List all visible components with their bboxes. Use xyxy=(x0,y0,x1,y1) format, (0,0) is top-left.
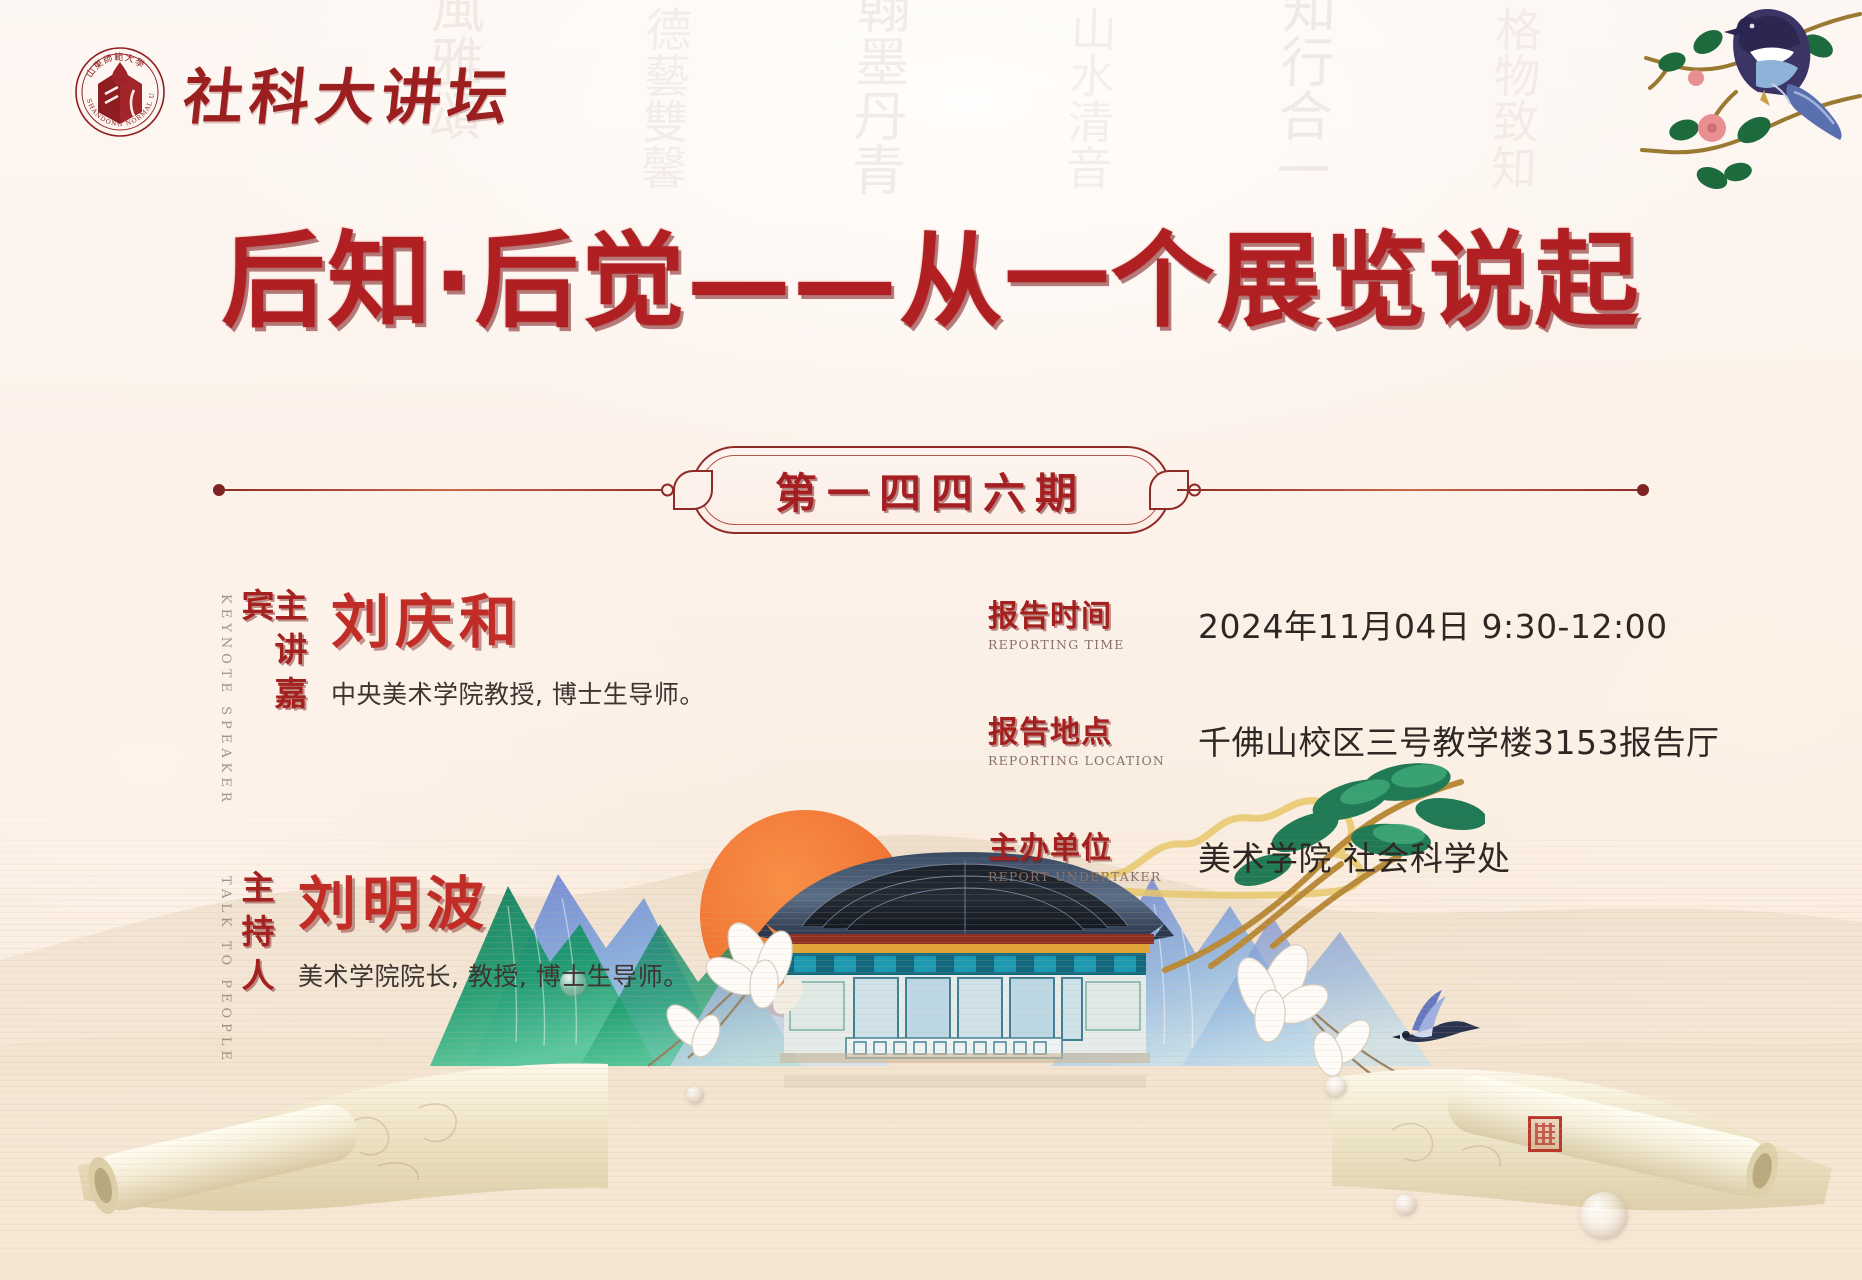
page-title: 后知·后觉——从一个展览说起 xyxy=(0,196,1862,347)
host-label-en: TALK TO PEOPLE xyxy=(218,870,233,1065)
host-block: TALK TO PEOPLE 主持人 刘明波 美术学院院长, 教授, 博士生导师… xyxy=(218,870,838,1040)
host-label: TALK TO PEOPLE 主持人 xyxy=(218,870,272,1040)
info-key-organizer-en: REPORT UNDERTAKER xyxy=(988,869,1138,884)
magpie-on-blossom-branch-icon xyxy=(1612,0,1862,215)
episode-banner-row: 第一四四六期 xyxy=(0,440,1862,540)
brand-title: 社科大讲坛 xyxy=(179,49,518,136)
info-key-location: 报告地点 REPORTING LOCATION xyxy=(988,714,1138,768)
episode-label: 第一四四六期 xyxy=(775,460,1087,521)
banner-knot-left-icon xyxy=(673,470,713,510)
water-bubble-icon xyxy=(1395,1194,1417,1216)
watermark-column: 翰墨丹青 xyxy=(841,0,911,196)
watermark-column: 德藝雙馨 xyxy=(633,0,693,190)
event-info-section: 报告时间 REPORTING TIME 2024年11月04日 9:30-12:… xyxy=(988,598,1748,946)
keynote-speaker-title: 中央美术学院教授, 博士生导师。 xyxy=(331,675,705,711)
episode-banner: 第一四四六期 xyxy=(691,446,1171,534)
host-info: 刘明波 美术学院院长, 教授, 博士生导师。 xyxy=(298,870,689,993)
rolled-scroll-right-icon xyxy=(1332,1038,1852,1228)
banner-dot-left-icon xyxy=(661,484,674,497)
info-key-time: 报告时间 REPORTING TIME xyxy=(988,598,1138,652)
keynote-speaker-name: 刘庆和 xyxy=(331,592,705,653)
info-row-time: 报告时间 REPORTING TIME 2024年11月04日 9:30-12:… xyxy=(988,598,1748,652)
brand-header: 山東師範大學 SHANDONG NORMAL UNIVERSITY 社科大讲坛 xyxy=(74,46,514,138)
keynote-speaker-info: 刘庆和 中央美术学院教授, 博士生导师。 xyxy=(331,588,705,711)
info-value-organizer: 美术学院 社会科学处 xyxy=(1138,830,1511,880)
water-bubble-icon xyxy=(686,1086,704,1104)
host-name: 刘明波 xyxy=(298,874,689,935)
info-value-time: 2024年11月04日 9:30-12:00 xyxy=(1138,598,1668,648)
keynote-speaker-label-en: KEYNOTE SPEAKER xyxy=(218,588,233,807)
water-bubble-icon xyxy=(1325,1076,1347,1098)
info-key-time-cn: 报告时间 xyxy=(988,600,1138,633)
info-row-location: 报告地点 REPORTING LOCATION 千佛山校区三号教学楼3153报告… xyxy=(988,714,1748,768)
watermark-column: 知行合一 xyxy=(1266,0,1336,196)
poster-canvas: 風雅頌 德藝雙馨 翰墨丹青 山水清音 知行合一 格物致知 xyxy=(0,0,1862,1280)
flying-magpie-icon xyxy=(1384,984,1494,1054)
info-key-organizer: 主办单位 REPORT UNDERTAKER xyxy=(988,830,1138,884)
red-seal-stamp-icon xyxy=(1528,1116,1562,1152)
info-value-location: 千佛山校区三号教学楼3153报告厅 xyxy=(1138,714,1719,764)
shandong-normal-university-seal-icon: 山東師範大學 SHANDONG NORMAL UNIVERSITY xyxy=(74,46,166,138)
info-key-organizer-cn: 主办单位 xyxy=(988,832,1138,865)
keynote-speaker-block: KEYNOTE SPEAKER 主讲嘉宾 刘庆和 中央美术学院教授, 博士生导师… xyxy=(218,588,838,758)
info-key-location-en: REPORTING LOCATION xyxy=(988,753,1138,768)
info-key-time-en: REPORTING TIME xyxy=(988,637,1138,652)
keynote-speaker-label-cn: 主讲嘉宾 xyxy=(239,588,305,758)
info-row-organizer: 主办单位 REPORT UNDERTAKER 美术学院 社会科学处 xyxy=(988,830,1748,884)
divider-line-right xyxy=(1177,489,1647,491)
divider-line-left xyxy=(215,489,685,491)
host-label-cn: 主持人 xyxy=(239,870,272,1002)
rolled-scroll-left-icon xyxy=(48,1038,608,1228)
watermark-column: 山水清音 xyxy=(1058,0,1118,190)
keynote-speaker-label: KEYNOTE SPEAKER 主讲嘉宾 xyxy=(218,588,305,758)
host-title: 美术学院院长, 教授, 博士生导师。 xyxy=(298,957,689,993)
people-section: KEYNOTE SPEAKER 主讲嘉宾 刘庆和 中央美术学院教授, 博士生导师… xyxy=(218,588,838,1040)
watermark-column: 格物致知 xyxy=(1483,0,1543,190)
info-key-location-cn: 报告地点 xyxy=(988,716,1138,749)
water-bubble-icon xyxy=(1580,1192,1628,1240)
